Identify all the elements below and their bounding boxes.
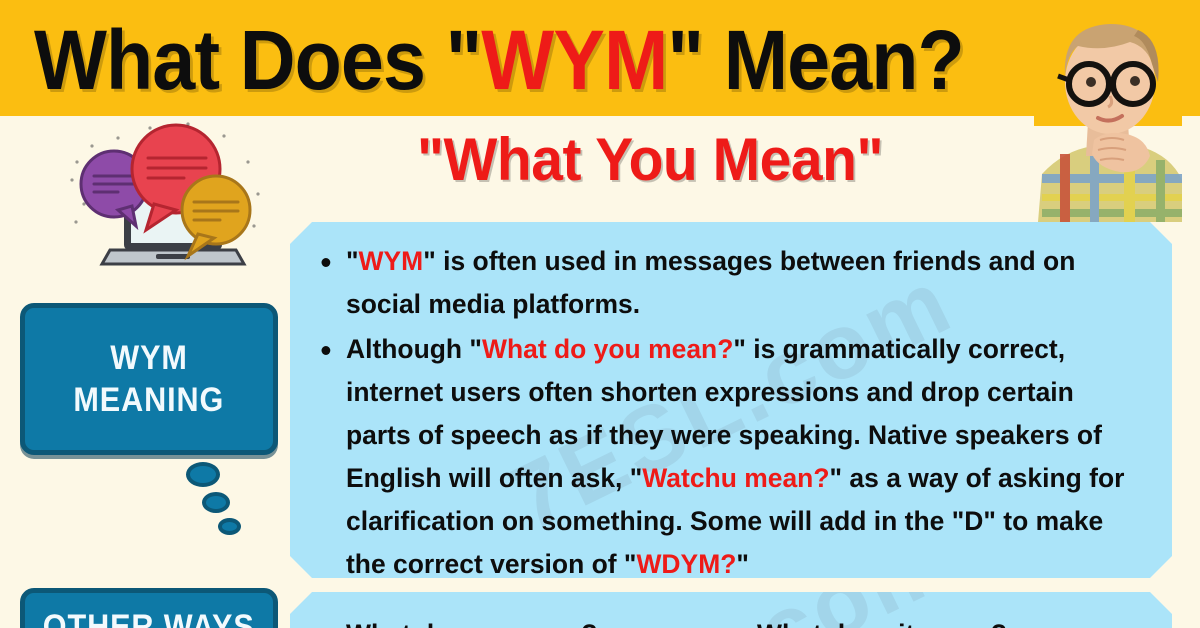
title-highlight: WYM [481,18,667,102]
title-post: " Mean? [667,18,963,102]
other-ways-badge: OTHER WAYS TO SAY [20,588,278,628]
highlighted-term: What do you mean? [482,334,733,364]
laptop-with-speech-bubbles-icon [58,122,280,270]
thought-bubble-dot-small [218,518,241,535]
wym-explanation-card: 7ESL.com "WYM" is often used in messages… [290,222,1172,578]
list-item: What do you mean? [346,614,729,628]
explanation-bullet-list: "WYM" is often used in messages between … [290,222,1172,586]
other-ways-card: 7ESL.com What do you mean?What does it m… [290,592,1172,628]
page-title: What Does "WYM" Mean? [34,8,1046,112]
body-text: " is often used in messages between frie… [346,246,1075,319]
highlighted-term: WYM [359,246,424,276]
body-text: " [346,246,359,276]
body-text: " [736,549,749,579]
list-item: Although "What do you mean?" is grammati… [346,328,1126,586]
title-pre: What Does " [34,18,481,102]
thinking-boy-photo [1034,4,1182,222]
thought-bubble-dot-large [186,462,220,487]
wym-meaning-badge: WYM MEANING [20,303,278,455]
infographic-canvas: What Does "WYM" Mean? [0,0,1200,628]
list-item: What does it mean? [757,614,1140,628]
subtitle: "What You Mean" [318,128,983,191]
body-text: Although " [346,334,482,364]
other-ways-line1: OTHER WAYS [43,606,255,628]
highlighted-term: WDYM? [636,549,736,579]
thought-bubble-dot-medium [202,492,230,513]
wym-meaning-line1: WYM [110,337,187,380]
highlighted-term: Watchu mean? [642,463,829,493]
wym-meaning-line2: MEANING [74,379,225,422]
list-item: "WYM" is often used in messages between … [346,240,1126,326]
other-ways-list: What do you mean?What does it mean? [290,592,1172,628]
